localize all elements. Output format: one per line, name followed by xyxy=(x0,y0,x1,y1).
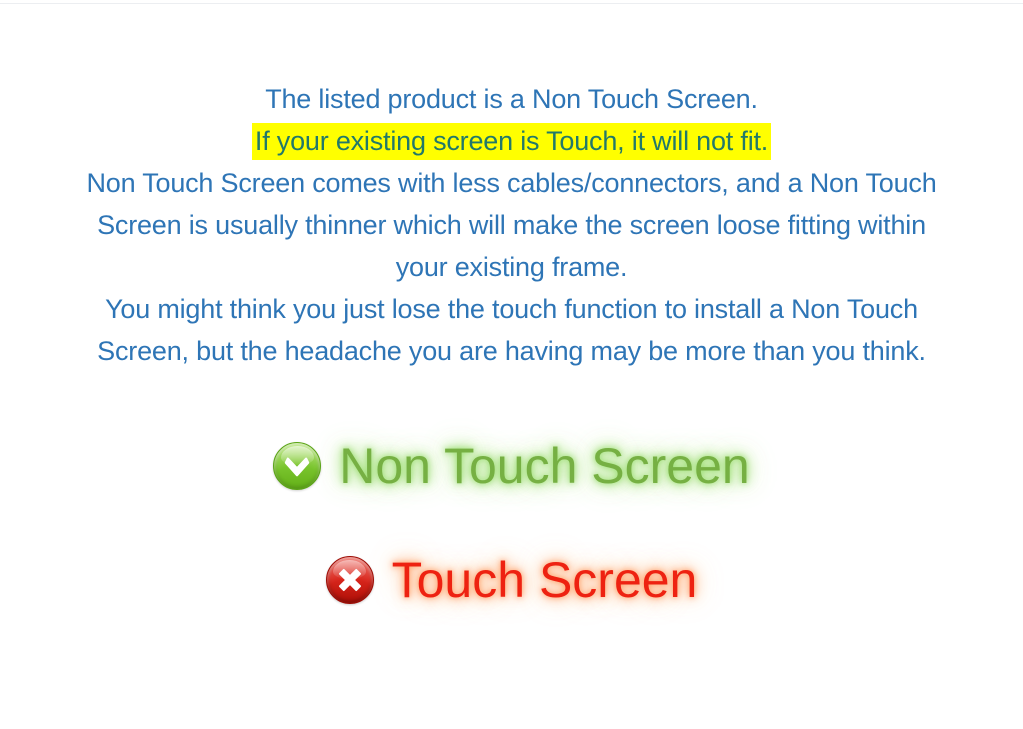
verdict-label-non-touch-screen: Non Touch Screen xyxy=(339,438,749,494)
notice-line-4: You might think you just lose the touch … xyxy=(0,288,1023,372)
notice-text-block: The listed product is a Non Touch Screen… xyxy=(0,78,1023,372)
verdict-row-touch-screen: Touch Screen xyxy=(0,552,1023,608)
verdict-label-touch-screen: Touch Screen xyxy=(392,552,698,608)
verdict-row-non-touch-screen: Non Touch Screen xyxy=(0,438,1023,494)
x-mark-icon xyxy=(327,557,373,603)
check-circle-icon xyxy=(273,442,321,490)
notice-line-2-highlighted: If your existing screen is Touch, it wil… xyxy=(0,120,1023,162)
top-divider xyxy=(0,3,1023,4)
notice-line-1: The listed product is a Non Touch Screen… xyxy=(0,78,1023,120)
product-notice-page: The listed product is a Non Touch Screen… xyxy=(0,0,1023,729)
highlighted-warning-text: If your existing screen is Touch, it wil… xyxy=(252,123,771,160)
notice-line-3: Non Touch Screen comes with less cables/… xyxy=(0,162,1023,288)
check-mark-icon xyxy=(274,443,320,489)
cross-circle-icon xyxy=(326,556,374,604)
